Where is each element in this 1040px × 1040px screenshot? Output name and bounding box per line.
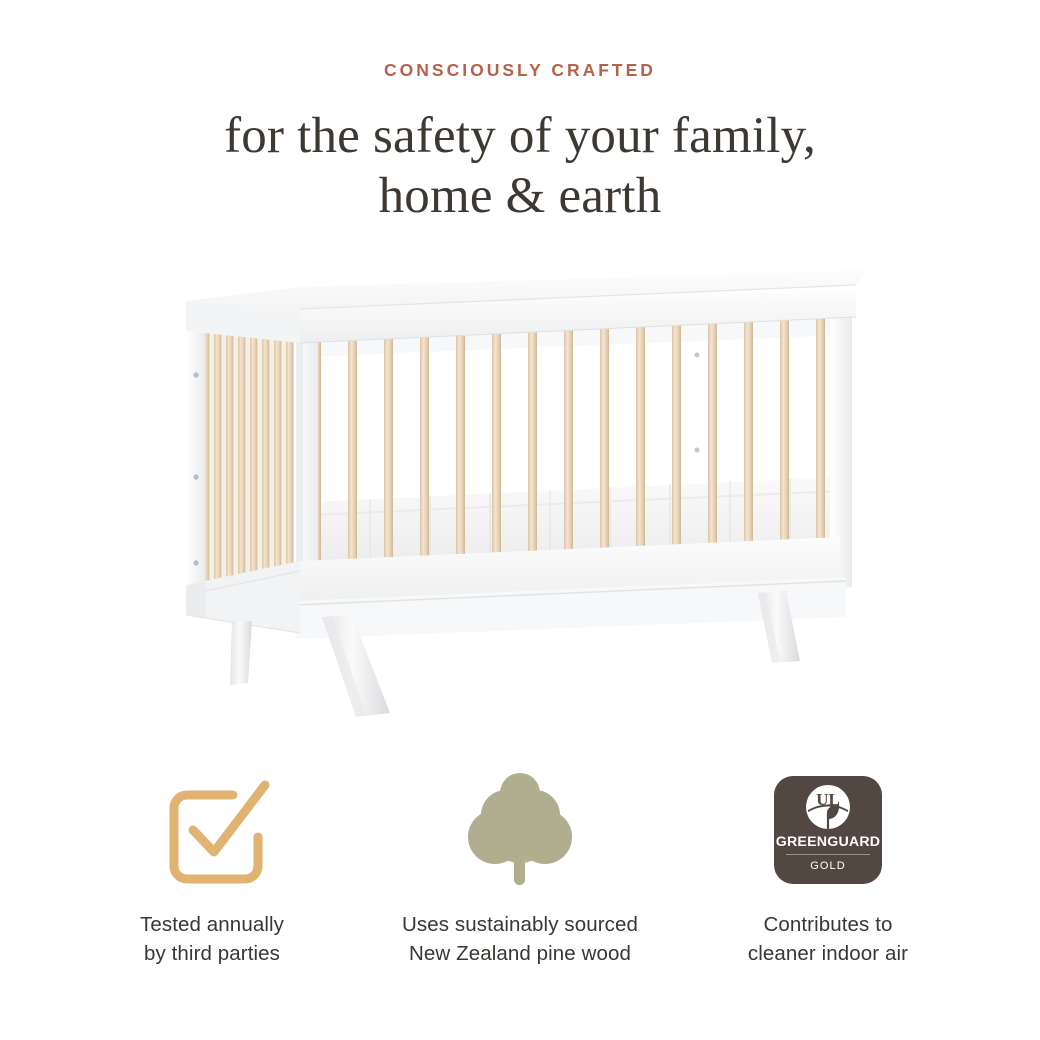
product-image-crib bbox=[0, 265, 1040, 755]
page-header: CONSCIOUSLY CRAFTED for the safety of yo… bbox=[0, 0, 1040, 226]
caption-line-2: New Zealand pine wood bbox=[402, 939, 638, 968]
badge-divider bbox=[786, 854, 870, 855]
tree-icon bbox=[468, 771, 572, 889]
eyebrow-text: CONSCIOUSLY CRAFTED bbox=[0, 62, 1040, 80]
crib-left-post bbox=[186, 320, 205, 597]
headline-line-1: for the safety of your family, bbox=[224, 108, 816, 164]
feature-icon-slot: UL GREENGUARD GOLD bbox=[774, 768, 882, 892]
feature-item-tested-annually: Tested annually by third parties bbox=[62, 768, 362, 968]
crib-illustration bbox=[0, 265, 1040, 755]
caption-line-1: Contributes to bbox=[748, 910, 908, 939]
feature-list: Tested annually by third parties bbox=[0, 768, 1040, 968]
feature-icon-slot bbox=[468, 768, 572, 892]
greenguard-level: GOLD bbox=[810, 861, 846, 872]
headline-line-2: home & earth bbox=[0, 166, 1040, 226]
caption-line-2: cleaner indoor air bbox=[748, 939, 908, 968]
feature-icon-slot bbox=[153, 768, 271, 892]
ul-mark-icon: UL bbox=[803, 782, 853, 832]
feature-caption: Uses sustainably sourced New Zealand pin… bbox=[402, 910, 638, 968]
feature-item-greenguard: UL GREENGUARD GOLD Contributes to cleane… bbox=[678, 768, 978, 968]
page-title: for the safety of your family, home & ea… bbox=[0, 106, 1040, 226]
screw-head-icon bbox=[193, 474, 198, 479]
screw-head-icon bbox=[193, 372, 198, 377]
product-feature-page: CONSCIOUSLY CRAFTED for the safety of yo… bbox=[0, 0, 1040, 1040]
crib-leg-left-rear bbox=[230, 621, 252, 685]
feature-item-sustainable-wood: Uses sustainably sourced New Zealand pin… bbox=[370, 768, 670, 968]
feature-caption: Contributes to cleaner indoor air bbox=[748, 910, 908, 968]
screw-head-icon bbox=[193, 560, 198, 565]
screw-head-icon bbox=[695, 448, 700, 453]
greenguard-name: GREENGUARD bbox=[776, 835, 880, 849]
caption-line-2: by third parties bbox=[140, 939, 284, 968]
feature-caption: Tested annually by third parties bbox=[140, 910, 284, 968]
caption-line-1: Uses sustainably sourced bbox=[402, 910, 638, 939]
caption-line-1: Tested annually bbox=[140, 910, 284, 939]
greenguard-gold-badge-icon: UL GREENGUARD GOLD bbox=[774, 776, 882, 884]
checkbox-check-icon bbox=[153, 771, 271, 889]
screw-head-icon bbox=[695, 353, 700, 358]
